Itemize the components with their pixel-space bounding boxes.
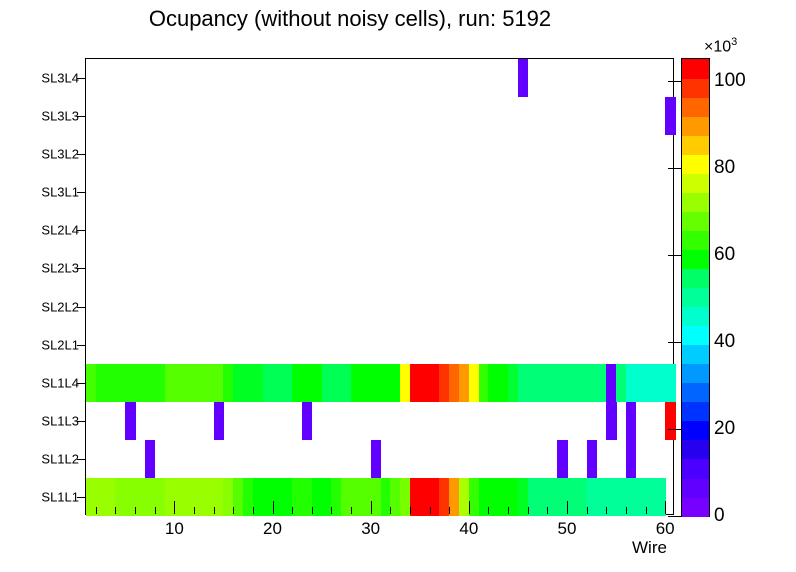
x-axis-minor-tick <box>253 507 254 514</box>
colorbar-band <box>682 268 709 288</box>
heatmap-cell <box>125 402 135 440</box>
colorbar-tick-label: 20 <box>714 418 735 440</box>
heatmap-cell <box>665 364 675 402</box>
colorbar-band <box>682 230 709 250</box>
colorbar-band <box>682 478 709 498</box>
x-axis-major-tick <box>469 501 470 514</box>
x-axis-minor-tick <box>606 507 607 514</box>
y-axis-label-sl1l1: SL1L1 <box>41 489 79 504</box>
colorbar-band <box>682 59 709 79</box>
colorbar-band <box>682 383 709 403</box>
y-axis-label-sl3l4: SL3L4 <box>41 71 79 86</box>
y-axis-label-sl3l2: SL3L2 <box>41 147 79 162</box>
x-axis-minor-tick <box>430 507 431 514</box>
x-axis-tick-label: 30 <box>361 519 380 539</box>
colorbar-tick-label: 40 <box>714 331 735 353</box>
heatmap-cell <box>587 440 597 478</box>
x-axis-minor-tick <box>528 507 529 514</box>
y-axis-label-sl1l2: SL1L2 <box>41 451 79 466</box>
heatmap-cell <box>606 402 616 440</box>
x-axis-minor-tick <box>508 507 509 514</box>
heatmap-cell <box>302 402 312 440</box>
heatmap-cell <box>665 97 675 135</box>
x-axis-major-tick <box>174 501 175 514</box>
x-axis-minor-tick <box>547 507 548 514</box>
colorbar-band <box>682 211 709 231</box>
y-axis-label-sl2l2: SL2L2 <box>41 299 79 314</box>
heatmap-cell <box>145 440 155 478</box>
x-axis-tick-label: 20 <box>263 519 282 539</box>
colorbar-band <box>682 307 709 327</box>
x-axis-minor-tick <box>351 507 352 514</box>
x-axis-minor-tick <box>233 507 234 514</box>
colorbar-band <box>682 78 709 98</box>
colorbar-exponent-base: ×10 <box>704 38 731 55</box>
y-axis-label-sl2l4: SL2L4 <box>41 223 79 238</box>
heatmap-cell <box>626 402 636 440</box>
x-axis-major-tick <box>567 501 568 514</box>
colorbar-band <box>682 154 709 174</box>
colorbar-exponent-power: 3 <box>731 36 737 48</box>
x-axis-tick-label: 10 <box>165 519 184 539</box>
x-axis-minor-tick <box>646 507 647 514</box>
x-axis-title: Wire <box>632 538 667 558</box>
y-axis-label-sl3l3: SL3L3 <box>41 109 79 124</box>
colorbar-band <box>682 135 709 155</box>
heatmap-cell <box>518 59 528 97</box>
colorbar-band <box>682 497 709 517</box>
heatmap-cell <box>665 402 675 440</box>
x-axis-minor-tick <box>194 507 195 514</box>
colorbar-band <box>682 97 709 117</box>
colorbar-band <box>682 364 709 384</box>
colorbar-tick <box>668 429 682 430</box>
colorbar[interactable]: 100806040200 <box>681 58 710 517</box>
plot-frame: SL1L1SL1L2SL1L3SL1L4SL2L1SL2L2SL2L3SL2L4… <box>85 58 674 515</box>
colorbar-band <box>682 440 709 460</box>
colorbar-tick-label: 0 <box>714 505 725 527</box>
colorbar-tick <box>668 342 682 343</box>
heatmap-cell <box>626 440 636 478</box>
x-axis-minor-tick <box>390 507 391 514</box>
x-axis-major-tick <box>273 501 274 514</box>
x-axis-minor-tick <box>488 507 489 514</box>
x-axis-minor-tick <box>410 507 411 514</box>
x-axis-tick-label: 60 <box>656 519 675 539</box>
x-axis-minor-tick <box>449 507 450 514</box>
y-axis-label-sl1l4: SL1L4 <box>41 375 79 390</box>
colorbar-band <box>682 421 709 441</box>
heatmap-cell <box>371 440 381 478</box>
x-axis-major-tick <box>665 501 666 514</box>
colorbar-band <box>682 402 709 422</box>
colorbar-tick <box>668 255 682 256</box>
y-axis-label-sl3l1: SL3L1 <box>41 185 79 200</box>
colorbar-tick <box>668 168 682 169</box>
x-axis-tick-label: 40 <box>459 519 478 539</box>
colorbar-tick-label: 60 <box>714 244 735 266</box>
colorbar-band <box>682 326 709 346</box>
colorbar-tick <box>668 516 682 517</box>
y-axis-label-sl2l3: SL2L3 <box>41 261 79 276</box>
x-axis-minor-tick <box>587 507 588 514</box>
colorbar-tick-label: 80 <box>714 157 735 179</box>
x-axis-minor-tick <box>626 507 627 514</box>
colorbar-exponent: ×103 <box>704 36 737 56</box>
colorbar-band <box>682 192 709 212</box>
heatmap-cell <box>557 440 567 478</box>
colorbar-band <box>682 173 709 193</box>
colorbar-band <box>682 288 709 308</box>
x-axis-minor-tick <box>331 507 332 514</box>
root-canvas: Ocupancy (without noisy cells), run: 519… <box>0 0 796 572</box>
x-axis-minor-tick <box>214 507 215 514</box>
heatmap-cell <box>214 402 224 440</box>
colorbar-band <box>682 459 709 479</box>
colorbar-tick <box>668 81 682 82</box>
page-title: Ocupancy (without noisy cells), run: 519… <box>0 6 700 32</box>
x-axis-minor-tick <box>292 507 293 514</box>
colorbar-tick-label: 100 <box>714 70 746 92</box>
x-axis-tick-label: 50 <box>558 519 577 539</box>
colorbar-band <box>682 249 709 269</box>
y-axis-label-sl2l1: SL2L1 <box>41 337 79 352</box>
y-axis-label-sl1l3: SL1L3 <box>41 413 79 428</box>
colorbar-band <box>682 116 709 136</box>
x-axis-minor-tick <box>96 507 97 514</box>
x-axis-minor-tick <box>115 507 116 514</box>
x-axis-minor-tick <box>135 507 136 514</box>
x-axis-minor-tick <box>155 507 156 514</box>
heatmap-cells <box>86 59 673 514</box>
colorbar-band <box>682 345 709 365</box>
x-axis-minor-tick <box>312 507 313 514</box>
x-axis-major-tick <box>371 501 372 514</box>
